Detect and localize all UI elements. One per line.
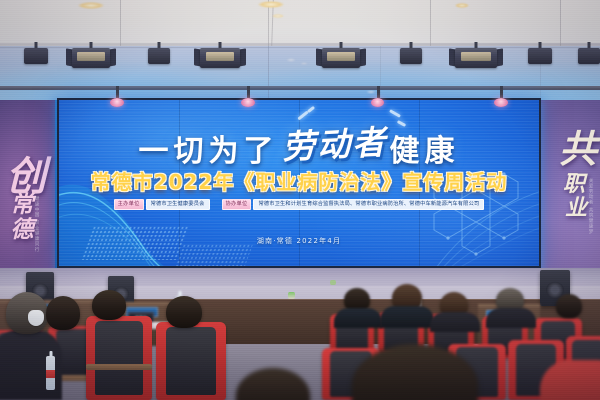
seat: [156, 322, 226, 400]
water-bottle: [46, 356, 55, 390]
organizer-value: 常德市卫生和计划生育综合监督执法局、常德市职业病防治所、常德中车新能源汽车有限公…: [253, 199, 484, 210]
hanging-light-fixture: [110, 98, 124, 107]
headline-part-before: 一切为了: [139, 135, 279, 169]
screen-headline: 一切为了劳动者健康: [59, 118, 539, 169]
banner-right-char: 共: [559, 118, 597, 173]
screen-subtitle: 常德市2022年《职业病防治法》宣传周活动: [59, 166, 539, 195]
audience-shoulders: [486, 308, 536, 328]
stage-floor-object: [330, 280, 336, 285]
organizer-group: 主办单位 常德市卫生健康委员会: [114, 199, 210, 210]
lighting-rail: [0, 86, 600, 90]
side-banner-right: 共 职 业 关爱劳动者 共筑健康梦: [541, 100, 600, 278]
ceiling-downlight: [272, 14, 284, 18]
led-screen: 一切为了劳动者健康 常德市2022年《职业病防治法》宣传周活动 主办单位 常德市…: [59, 100, 539, 266]
banner-left-char: 常德: [2, 192, 36, 242]
banner-right-char: 业: [565, 190, 587, 222]
seat: [86, 316, 152, 400]
audience-head: [46, 296, 80, 330]
hanging-light-fixture: [241, 98, 255, 107]
banner-left-subtext: 健康中国 职业健康同行: [33, 196, 39, 256]
ceiling-downlight: [78, 2, 104, 9]
audience-shoulders: [430, 312, 480, 332]
face-mask: [28, 310, 44, 326]
banner-right-subtext: 关爱劳动者 共筑健康梦: [587, 178, 593, 236]
audience-shoulders: [334, 308, 382, 328]
ceiling-downlight: [258, 1, 284, 8]
hanging-light-fixture: [371, 98, 384, 107]
audience-head: [166, 296, 202, 328]
stage-floor-object: [288, 292, 295, 299]
audience-head: [92, 290, 126, 320]
headline-part-after: 健康: [390, 135, 460, 169]
side-banner-left: 创 常德 健康中国 职业健康同行: [0, 100, 57, 278]
ceiling-downlight: [455, 3, 469, 8]
organizer-tag: 协办单位: [222, 199, 252, 210]
screen-place-date: 湖南·常德 2022年4月: [59, 236, 539, 246]
headline-brush-word: 劳动者: [277, 115, 390, 169]
audience-shoulders: [380, 306, 434, 328]
organizer-tag: 主办单位: [114, 199, 144, 210]
screen-organizers: 主办单位 常德市卫生健康委员会 协办单位 常德市卫生和计划生育综合监督执法局、常…: [59, 199, 539, 210]
hanging-light-fixture: [494, 98, 508, 107]
organizer-value: 常德市卫生健康委员会: [146, 199, 210, 210]
organizer-group: 协办单位 常德市卫生和计划生育综合监督执法局、常德市职业病防治所、常德中车新能源…: [222, 199, 485, 210]
conference-hall-photo: 创 常德 健康中国 职业健康同行 共 职 业 关爱劳动者 共筑健康梦: [0, 0, 600, 400]
audience-head: [556, 294, 582, 318]
